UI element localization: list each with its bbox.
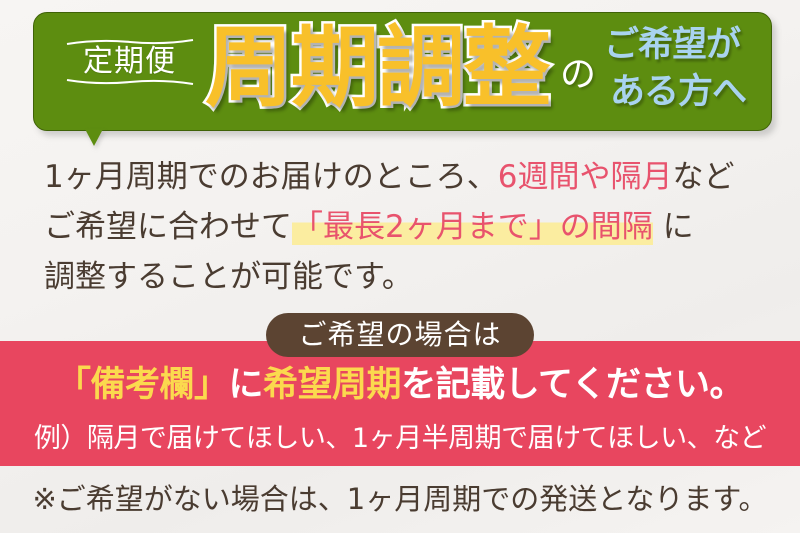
footnote-note: ※ご希望がない場合は、1ヶ月周期での発送となります。	[0, 479, 800, 519]
body-copy: 1ヶ月周期でのお届けのところ、6週間や隔月など ご希望に合わせて「最長2ヶ月まで…	[44, 152, 774, 302]
header-subtitle-line1: ご希望が	[604, 25, 740, 65]
body-line-3: 調整することが可能です。	[44, 252, 774, 302]
subscription-badge: 定期便	[62, 26, 197, 98]
bubble-tail-icon	[85, 129, 103, 146]
body-line2-text-a: ご希望に合わせて	[44, 209, 292, 245]
body-line1-text-a: 1ヶ月周期でのお届けのところ、	[44, 159, 498, 195]
promotional-banner: 定期便 周期調整 の ご希望が ある方へ 1ヶ月周期でのお届けのところ、6週間や…	[0, 0, 800, 533]
request-case-pill: ご希望の場合は	[266, 313, 534, 357]
subscription-badge-label: 定期便	[83, 47, 176, 77]
instruction-text-b: を記載してください。	[401, 365, 744, 405]
body-line1-text-b: など	[672, 159, 734, 195]
header-subtitle: ご希望が ある方へ	[604, 22, 764, 116]
body-line2-text-b: に	[653, 209, 694, 245]
instruction-headline: 「備考欄」に希望周期を記載してください。	[0, 363, 800, 407]
page-title: 周期調整	[205, 16, 549, 120]
header-subtitle-line2: ある方へ	[610, 72, 746, 112]
request-case-pill-label: ご希望の場合は	[298, 321, 501, 349]
body-line-1: 1ヶ月周期でのお届けのところ、6週間や隔月など	[44, 152, 774, 202]
instruction-examples: 例）隔月で届けてほしい、1ヶ月半周期で届けてほしい、など	[0, 421, 800, 457]
body-line2-emphasis: 「最長2ヶ月まで」の間隔	[292, 209, 653, 245]
body-line-2: ご希望に合わせて「最長2ヶ月まで」の間隔 に	[44, 202, 774, 252]
instruction-field-name: 「備考欄」	[56, 365, 229, 405]
instruction-text-a: に	[229, 365, 264, 405]
wave-line-bottom-icon	[66, 77, 194, 86]
instruction-cycle-term: 希望周期	[263, 365, 401, 405]
body-line1-emphasis: 6週間や隔月	[498, 159, 673, 195]
title-particle: の	[560, 55, 596, 95]
